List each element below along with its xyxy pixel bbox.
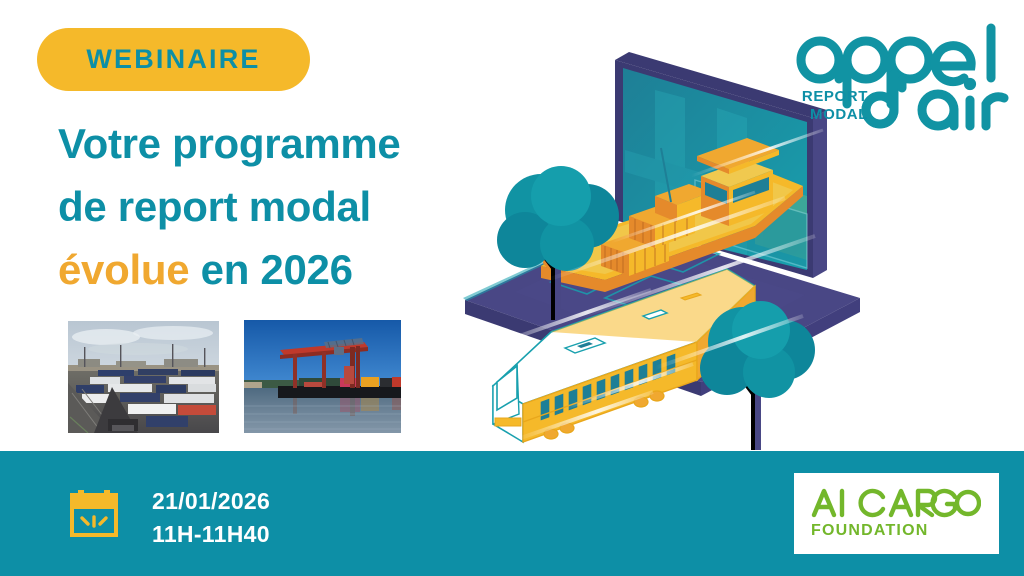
webinar-promo-banner: WEBINAIRE Votre programme de report moda…: [0, 0, 1024, 576]
rail-terminal-photo-graphic: [68, 321, 219, 433]
ai-cargo-foundation-logo: FOUNDATION: [794, 473, 999, 554]
port-barge-photo: [244, 320, 401, 433]
logo-subline-modal: MODAL: [782, 106, 868, 124]
rail-terminal-photo: [68, 321, 219, 433]
ai-cargo-wordmark: [811, 487, 981, 519]
calendar-clock-icon-graphic: [68, 487, 120, 539]
appel-dair-logo-subline: REPORT MODAL: [782, 88, 868, 124]
calendar-clock-icon: [68, 487, 120, 539]
headline-line-1: Votre programme: [58, 112, 498, 175]
logo-subline-report: REPORT: [782, 88, 868, 106]
page-title: Votre programme de report modal évolue e…: [58, 112, 498, 301]
headline-line-3-rest: en 2026: [189, 246, 352, 293]
ai-cargo-foundation-subline: FOUNDATION: [811, 522, 928, 540]
tree-right: [700, 301, 815, 450]
headline-line-3: évolue en 2026: [58, 238, 498, 301]
event-time: 11H-11H40: [152, 518, 270, 551]
port-barge-photo-graphic: [244, 320, 401, 433]
headline-line-2: de report modal: [58, 175, 498, 238]
event-datetime: 21/01/2026 11H-11H40: [152, 485, 270, 551]
headline-accent-word: évolue: [58, 246, 189, 293]
event-date: 21/01/2026: [152, 485, 270, 518]
webinaire-badge: WEBINAIRE: [37, 28, 310, 91]
webinaire-badge-label: WEBINAIRE: [86, 44, 260, 75]
